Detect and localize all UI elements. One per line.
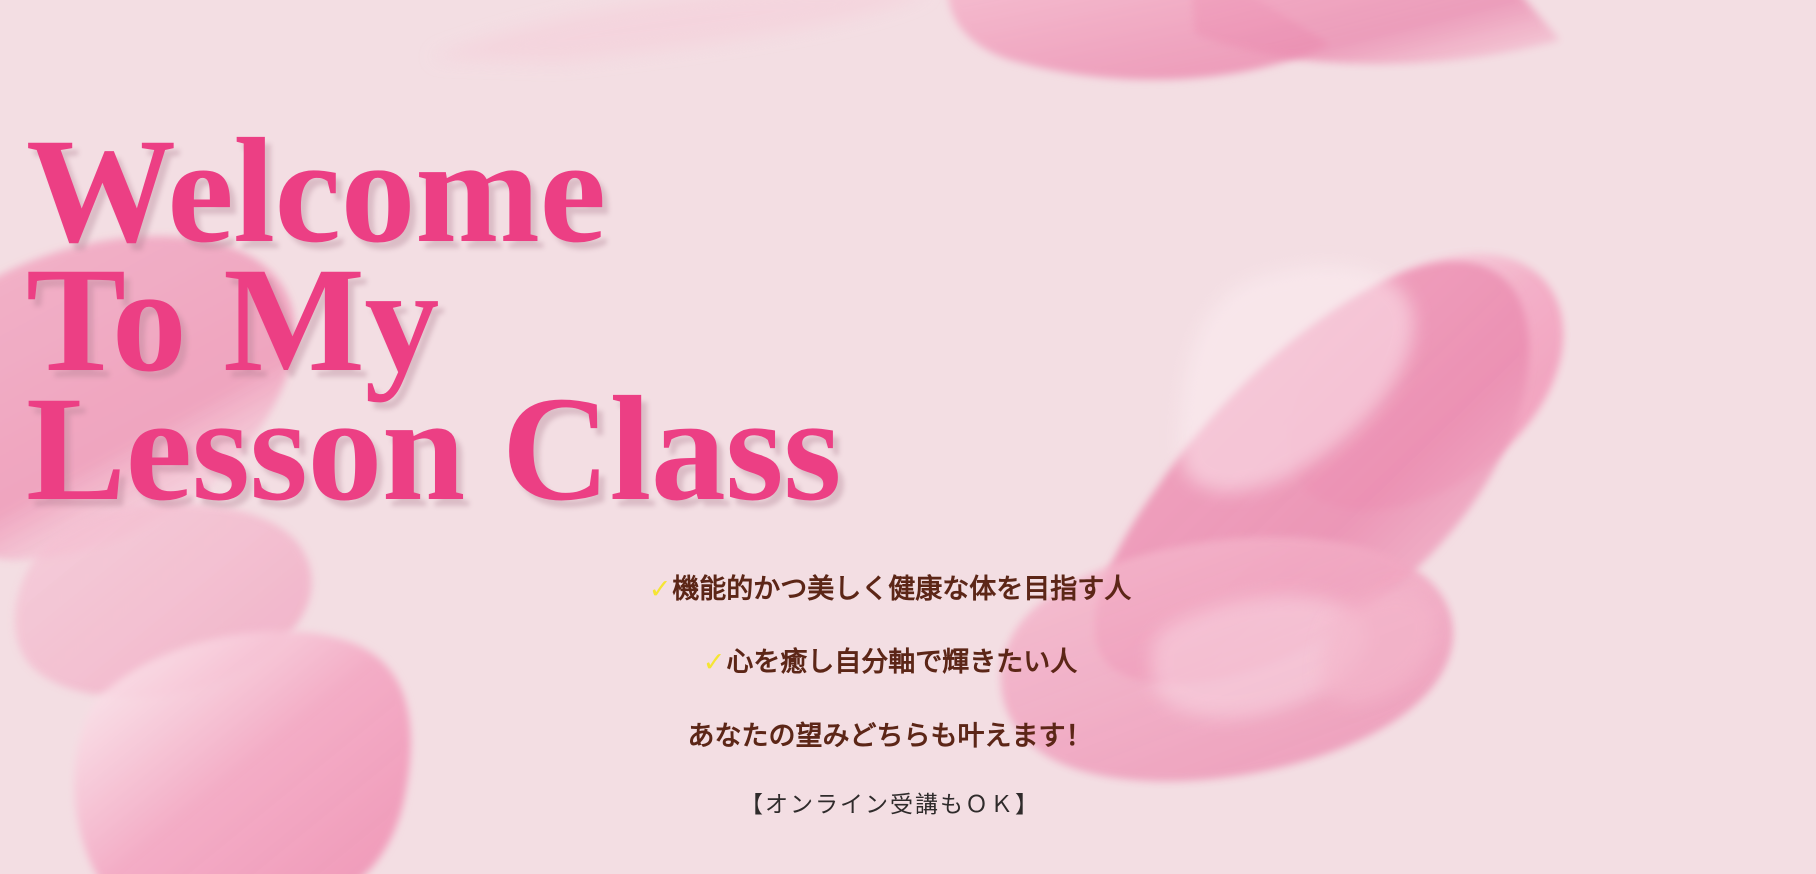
headline-line-3: Lesson Class bbox=[26, 385, 841, 514]
tagline-block: ✓機能的かつ美しく健康な体を目指す人 ✓心を癒し自分軸で輝きたい人 あなたの望み… bbox=[300, 540, 1480, 847]
online-note: 【オンライン受講もＯＫ】 bbox=[300, 787, 1480, 824]
tagline-item-1-text: 機能的かつ美しく健康な体を目指す人 bbox=[672, 574, 1131, 605]
check-icon: ✓ bbox=[649, 574, 672, 605]
check-icon: ✓ bbox=[703, 647, 726, 678]
tagline-item-2-text: 心を癒し自分軸で輝きたい人 bbox=[726, 647, 1077, 678]
hero-section: Welcome To My Lesson Class ✓機能的かつ美しく健康な体… bbox=[0, 0, 1816, 874]
tagline-item-3: あなたの望みどちらも叶えます！ bbox=[300, 714, 1480, 760]
tagline-item-2: ✓心を癒し自分軸で輝きたい人 bbox=[300, 640, 1480, 686]
page-title: Welcome To My Lesson Class bbox=[26, 127, 841, 514]
tagline-item-1: ✓機能的かつ美しく健康な体を目指す人 bbox=[300, 567, 1480, 613]
